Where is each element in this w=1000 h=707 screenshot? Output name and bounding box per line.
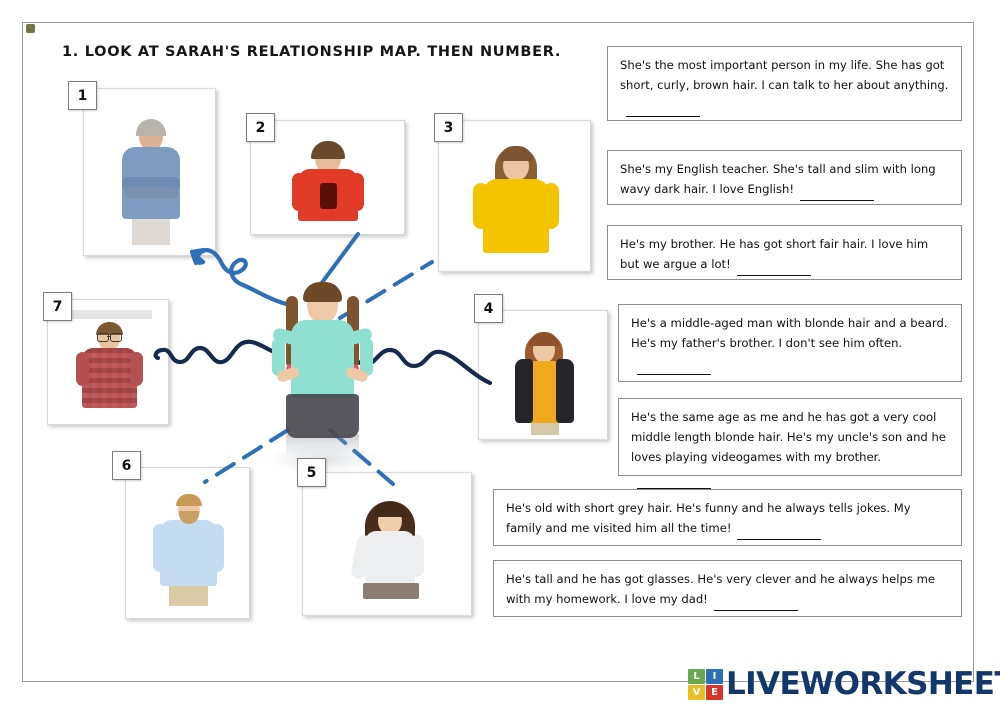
statement-box-2[interactable]: She's my English teacher. She's tall and… [607,150,962,205]
corner-marker-icon [26,24,35,33]
person-figure-1 [84,89,215,255]
number-badge-4: 4 [474,294,503,323]
answer-blank-3[interactable] [737,255,811,276]
photo-card-6[interactable] [125,467,250,619]
number-badge-7: 7 [43,292,72,321]
number-badge-3: 3 [434,113,463,142]
statement-box-6[interactable]: He's old with short grey hair. He's funn… [493,489,962,546]
logo-tile-e: E [706,685,723,700]
worksheet-page: 1. LOOK AT SARAH'S RELATIONSHIP MAP. THE… [0,0,1000,707]
logo-tile-i: I [706,669,723,684]
statement-box-4[interactable]: He's a middle-aged man with blonde hair … [618,304,962,382]
number-badge-5: 5 [297,458,326,487]
answer-blank-1[interactable] [626,96,700,117]
person-figure-3 [439,121,590,271]
number-badge-6: 6 [112,451,141,480]
photo-card-3[interactable] [438,120,591,272]
person-figure-5 [303,473,471,615]
liveworksheets-logo[interactable]: L I V E LIVEWORKSHEETS [688,666,1000,702]
number-badge-1: 1 [68,81,97,110]
page-title: 1. LOOK AT SARAH'S RELATIONSHIP MAP. THE… [62,44,561,60]
statement-text-5: He's the same age as me and he has got a… [631,410,946,464]
person-figure-4 [479,311,607,439]
statement-box-5[interactable]: He's the same age as me and he has got a… [618,398,962,476]
answer-blank-6[interactable] [737,519,821,540]
sarah-center-figure [255,268,390,483]
logo-tile-grid: L I V E [688,669,723,700]
statement-box-3[interactable]: He's my brother. He has got short fair h… [607,225,962,280]
logo-wordmark: LIVEWORKSHEETS [726,669,1000,700]
statement-text-4: He's a middle-aged man with blonde hair … [631,316,948,350]
answer-blank-7[interactable] [714,590,798,611]
photo-card-1[interactable] [83,88,216,256]
answer-blank-2[interactable] [800,180,874,201]
statement-text-6: He's old with short grey hair. He's funn… [506,501,911,535]
logo-tile-v: V [688,685,705,700]
number-badge-2: 2 [246,113,275,142]
answer-blank-4[interactable] [637,354,711,375]
photo-card-5[interactable] [302,472,472,616]
photo-card-4[interactable] [478,310,608,440]
logo-tile-l: L [688,669,705,684]
person-figure-6 [126,468,249,618]
statement-text-1: She's the most important person in my li… [620,58,948,92]
statement-box-7[interactable]: He's tall and he has got glasses. He's v… [493,560,962,617]
answer-blank-5[interactable] [637,468,711,489]
statement-box-1[interactable]: She's the most important person in my li… [607,46,962,121]
statement-text-2: She's my English teacher. She's tall and… [620,162,936,196]
